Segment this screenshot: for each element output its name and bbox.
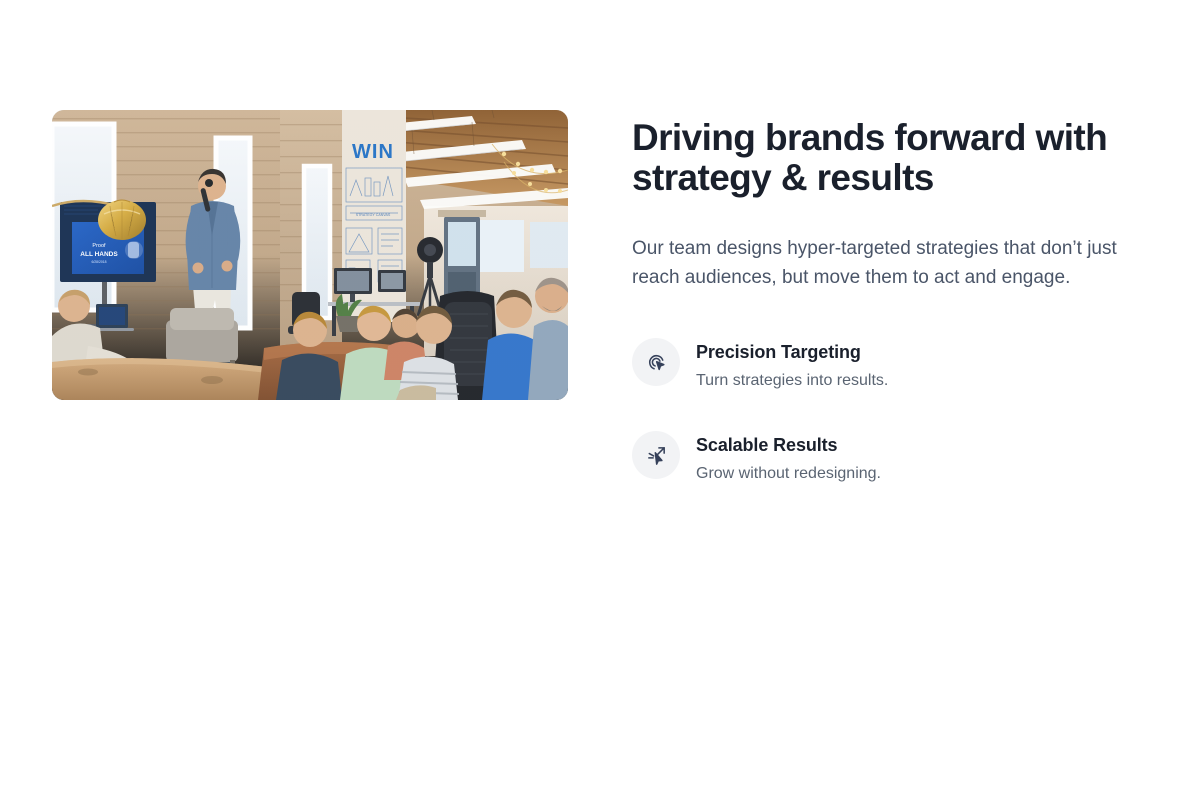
feature-title: Precision Targeting	[696, 341, 888, 363]
feature-section: WIN	[52, 110, 1148, 484]
page-root: WIN	[0, 0, 1200, 800]
cursor-click-icon	[632, 338, 680, 386]
feature-description: Grow without redesigning.	[696, 463, 881, 484]
page-title: Driving brands forward with strategy & r…	[632, 118, 1132, 198]
feature-description: Turn strategies into results.	[696, 370, 888, 391]
feature-item-precision-targeting: Precision Targeting Turn strategies into…	[632, 338, 1148, 391]
feature-title: Scalable Results	[696, 434, 881, 456]
cursor-click-glyph	[645, 351, 668, 374]
feature-body: Precision Targeting Turn strategies into…	[696, 338, 888, 391]
text-column: Driving brands forward with strategy & r…	[632, 110, 1148, 484]
media-column: WIN	[52, 110, 568, 400]
feature-body: Scalable Results Grow without redesignin…	[696, 431, 881, 484]
office-allhands-photo: WIN	[52, 110, 568, 400]
arrow-expand-glyph	[645, 444, 668, 467]
arrow-expand-icon	[632, 431, 680, 479]
office-photo-illustration: WIN	[52, 110, 568, 400]
section-subtext: Our team designs hyper-targeted strategi…	[632, 234, 1148, 292]
feature-list: Precision Targeting Turn strategies into…	[632, 338, 1148, 484]
feature-item-scalable-results: Scalable Results Grow without redesignin…	[632, 431, 1148, 484]
